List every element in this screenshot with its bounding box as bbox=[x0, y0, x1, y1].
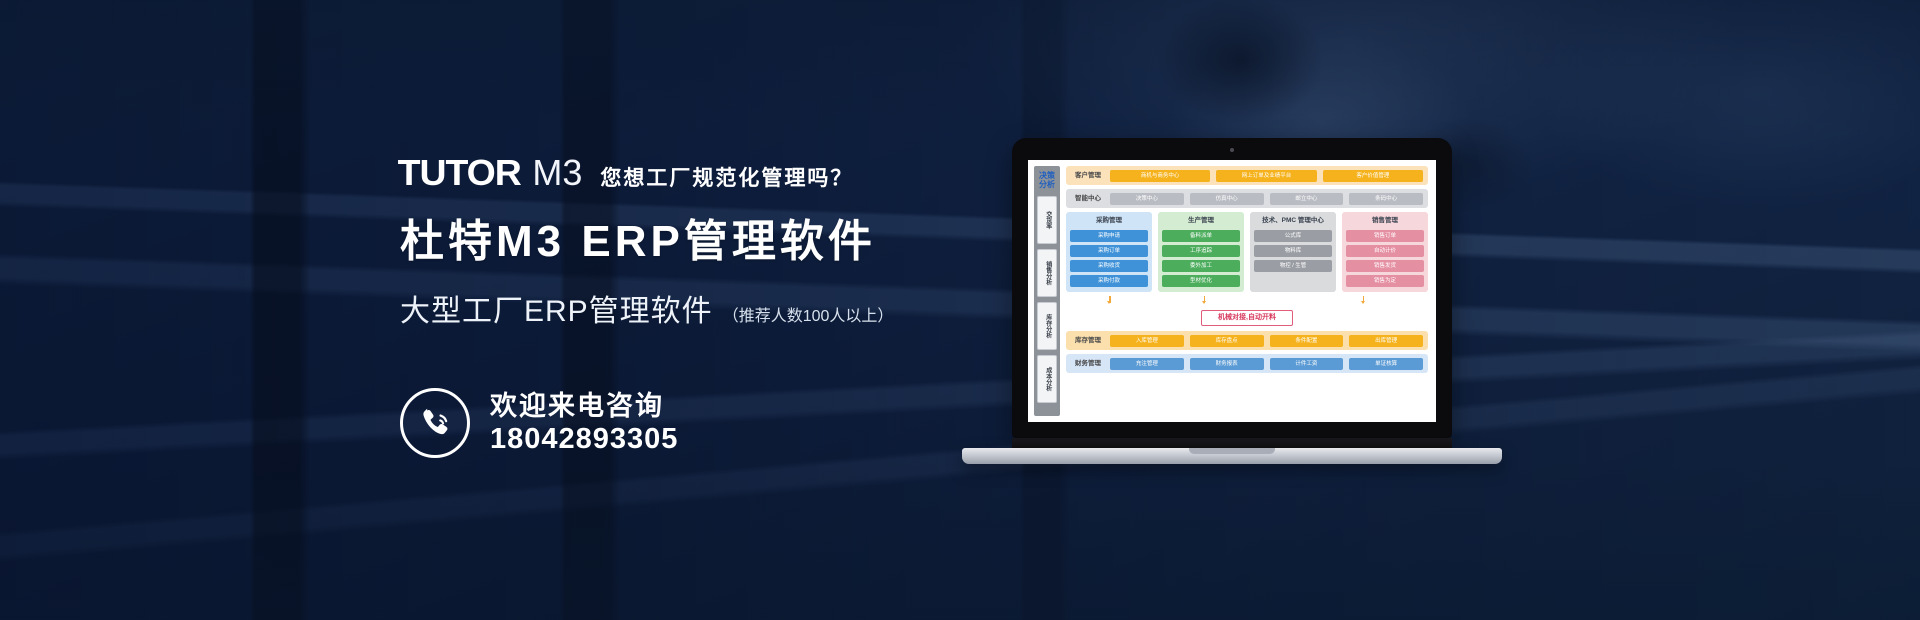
erp-column-item: 销售为定 bbox=[1346, 275, 1424, 287]
erp-strip-label: 客户管理 bbox=[1071, 169, 1105, 182]
erp-strip-label: 库存管理 bbox=[1071, 334, 1105, 347]
erp-column-item: 自动计价 bbox=[1346, 245, 1424, 257]
erp-rail-heading: 决策分析 bbox=[1036, 169, 1058, 191]
erp-column-item: 备料派单 bbox=[1162, 230, 1240, 242]
erp-column-item: 采购申请 bbox=[1070, 230, 1148, 242]
erp-strip-label: 智能中心 bbox=[1071, 192, 1105, 205]
contact-phone-number[interactable]: 18042893305 bbox=[490, 424, 678, 456]
erp-chip: 条件配置 bbox=[1270, 335, 1344, 347]
erp-chip: 充注管理 bbox=[1110, 358, 1184, 370]
eyebrow-tagline: 您想工厂规范化管理吗？ bbox=[600, 162, 853, 192]
contact-text-group: 欢迎来电咨询 18042893305 bbox=[490, 391, 678, 456]
laptop-mockup: 决策分析 交货率 销售分析 库存分析 成本分析 客户管理 商机与商务中心 网上订… bbox=[962, 138, 1502, 468]
erp-column-purchase: 采购管理 采购申请 采购订单 采购收货 采购付款 bbox=[1066, 212, 1152, 292]
erp-chip: 出库管理 bbox=[1349, 335, 1423, 347]
erp-column-production: 生产管理 备料派单 工序追踪 委外加工 型材优化 bbox=[1158, 212, 1244, 292]
erp-chip-group: 入库管理 库存盘点 条件配置 出库管理 bbox=[1110, 335, 1423, 347]
erp-callout-row: 机械对接,自动开料 bbox=[1066, 307, 1428, 327]
subheading-main: 大型工厂ERP管理软件 bbox=[400, 286, 713, 330]
laptop-lid: 决策分析 交货率 销售分析 库存分析 成本分析 客户管理 商机与商务中心 网上订… bbox=[1012, 138, 1452, 438]
down-arrow-icon bbox=[1363, 296, 1365, 303]
erp-column-item: 采购订单 bbox=[1070, 245, 1148, 257]
erp-column-item: 物料库 bbox=[1254, 245, 1332, 257]
erp-column-title: 生产管理 bbox=[1162, 216, 1240, 227]
erp-chip-group: 充注管理 财务报表 计件工资 单证核算 bbox=[1110, 358, 1423, 370]
brand-logo-m3: M3 bbox=[532, 152, 582, 194]
erp-rail-item: 交货率 bbox=[1037, 196, 1057, 244]
erp-strip-finance: 财务管理 充注管理 财务报表 计件工资 单证核算 bbox=[1066, 354, 1428, 373]
erp-chip: 仿真中心 bbox=[1190, 193, 1264, 205]
brand-eyebrow-row: TUTOR M3 您想工厂规范化管理吗？ bbox=[400, 152, 853, 194]
erp-chip: 财务报表 bbox=[1190, 358, 1264, 370]
erp-chip: 决策中心 bbox=[1110, 193, 1184, 205]
contact-title: 欢迎来电咨询 bbox=[490, 391, 678, 422]
erp-column-technology-pmc: 技术、PMC 管理中心 公式库 物料库 物控 / 生管 bbox=[1250, 212, 1336, 292]
erp-strip-label: 财务管理 bbox=[1071, 357, 1105, 370]
erp-strip-inventory: 库存管理 入库管理 库存盘点 条件配置 出库管理 bbox=[1066, 331, 1428, 350]
erp-column-item: 委外加工 bbox=[1162, 260, 1240, 272]
erp-column-item: 型材优化 bbox=[1162, 275, 1240, 287]
erp-module-columns: 采购管理 采购申请 采购订单 采购收货 采购付款 生产管理 备料派单 工序追踪 … bbox=[1066, 212, 1428, 292]
hero-banner: TUTOR M3 您想工厂规范化管理吗？ 杜特M3 ERP管理软件 大型工厂ER… bbox=[0, 0, 1920, 620]
erp-column-item: 工序追踪 bbox=[1162, 245, 1240, 257]
erp-chip-group: 商机与商务中心 网上订单及业绩平台 客户价值管理 bbox=[1110, 170, 1423, 182]
erp-column-item: 公式库 bbox=[1254, 230, 1332, 242]
erp-chip: 库存盘点 bbox=[1190, 335, 1264, 347]
erp-chip: 入库管理 bbox=[1110, 335, 1184, 347]
erp-column-item: 销售订单 bbox=[1346, 230, 1424, 242]
subheading-note: （推荐人数100人以上） bbox=[723, 302, 894, 326]
erp-rail-item: 成本分析 bbox=[1037, 355, 1057, 403]
erp-callout-machine-integration: 机械对接,自动开料 bbox=[1201, 310, 1293, 326]
erp-column-item: 采购收货 bbox=[1070, 260, 1148, 272]
erp-column-item: 销售发货 bbox=[1346, 260, 1424, 272]
erp-column-title: 采购管理 bbox=[1070, 216, 1148, 227]
phone-icon bbox=[400, 388, 470, 458]
erp-diagram-body: 客户管理 商机与商务中心 网上订单及业绩平台 客户价值管理 智能中心 决策 bbox=[1066, 166, 1428, 416]
erp-column-title: 销售管理 bbox=[1346, 216, 1424, 227]
brand-logo-tutor: TUTOR bbox=[398, 152, 521, 194]
down-arrow-icon bbox=[1204, 296, 1206, 303]
erp-column-sales: 销售管理 销售订单 自动计价 销售发货 销售为定 bbox=[1342, 212, 1428, 292]
down-arrow-icon bbox=[1109, 296, 1111, 303]
laptop-base-notch bbox=[1189, 448, 1275, 454]
erp-column-item: 物控 / 生管 bbox=[1254, 260, 1332, 272]
contact-block: 欢迎来电咨询 18042893305 bbox=[400, 388, 678, 458]
laptop-screen: 决策分析 交货率 销售分析 库存分析 成本分析 客户管理 商机与商务中心 网上订… bbox=[1028, 160, 1436, 422]
subheading-row: 大型工厂ERP管理软件 （推荐人数100人以上） bbox=[400, 286, 893, 330]
erp-chip: 邮立中心 bbox=[1270, 193, 1344, 205]
hero-copy-block: TUTOR M3 您想工厂规范化管理吗？ 杜特M3 ERP管理软件 大型工厂ER… bbox=[400, 0, 1000, 620]
erp-rail-item: 库存分析 bbox=[1037, 302, 1057, 350]
webcam-icon bbox=[1230, 148, 1234, 152]
erp-chip-group: 决策中心 仿真中心 邮立中心 条码中心 bbox=[1110, 193, 1423, 205]
erp-chip: 计件工资 bbox=[1270, 358, 1344, 370]
erp-chip: 条码中心 bbox=[1349, 193, 1423, 205]
erp-strip-smart-center: 智能中心 决策中心 仿真中心 邮立中心 条码中心 bbox=[1066, 189, 1428, 208]
erp-architecture-diagram: 决策分析 交货率 销售分析 库存分析 成本分析 客户管理 商机与商务中心 网上订… bbox=[1028, 160, 1436, 422]
erp-chip: 单证核算 bbox=[1349, 358, 1423, 370]
erp-chip: 客户价值管理 bbox=[1323, 170, 1423, 182]
erp-chip: 网上订单及业绩平台 bbox=[1216, 170, 1316, 182]
erp-rail-item: 销售分析 bbox=[1037, 249, 1057, 297]
erp-chip: 商机与商务中心 bbox=[1110, 170, 1210, 182]
erp-arrow-row bbox=[1066, 296, 1428, 303]
page-title: 杜特M3 ERP管理软件 bbox=[400, 205, 876, 269]
erp-decision-rail: 决策分析 交货率 销售分析 库存分析 成本分析 bbox=[1034, 166, 1060, 416]
erp-strip-customer: 客户管理 商机与商务中心 网上订单及业绩平台 客户价值管理 bbox=[1066, 166, 1428, 185]
erp-column-item: 采购付款 bbox=[1070, 275, 1148, 287]
erp-column-title: 技术、PMC 管理中心 bbox=[1254, 216, 1332, 227]
